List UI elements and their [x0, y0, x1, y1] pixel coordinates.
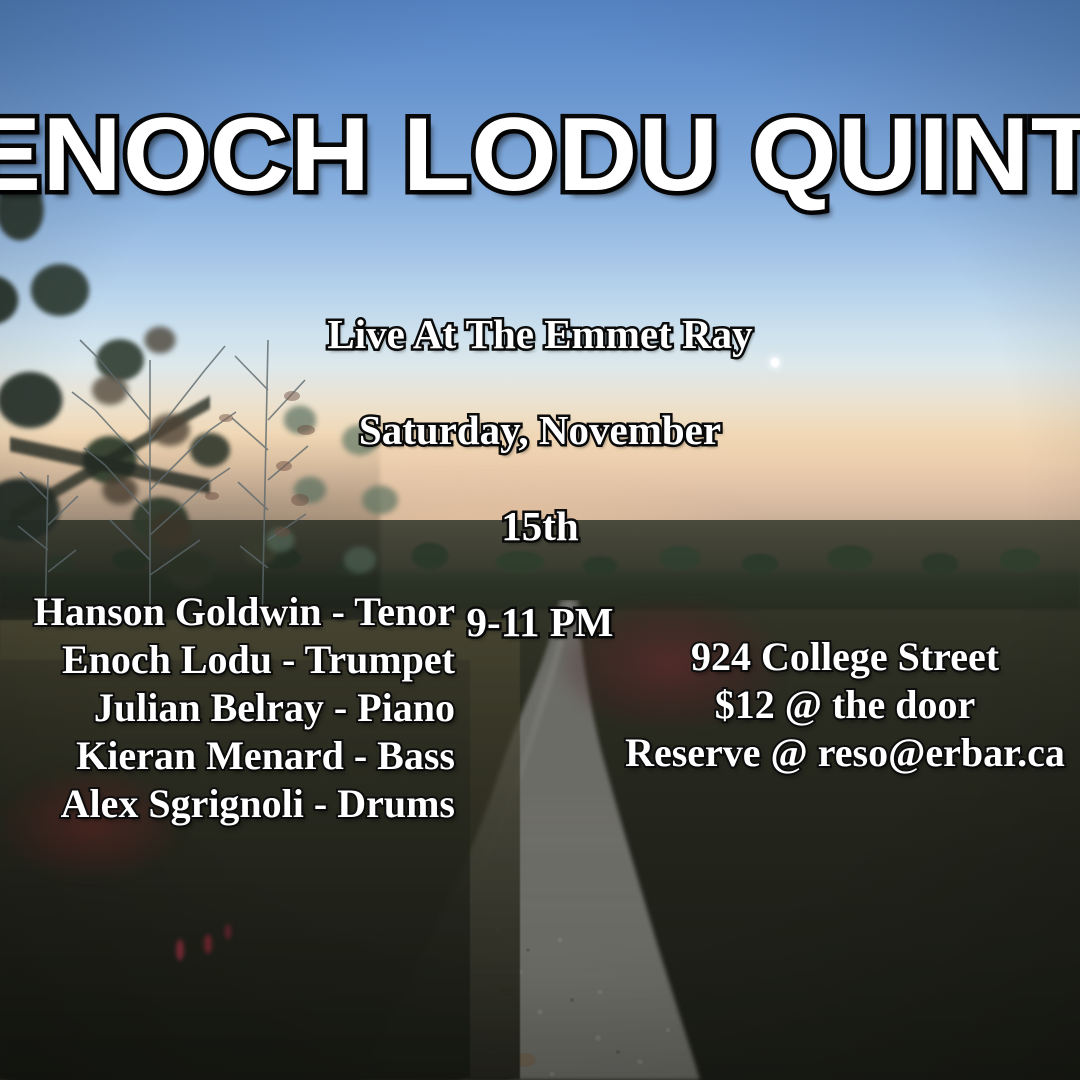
poster-title: ENOCH LODU QUINTET [0, 103, 1080, 207]
lineup-item-bass: Kieran Menard - Bass [0, 732, 455, 780]
subtitle-line-date: Saturday, November [0, 406, 1080, 454]
detail-address: 924 College Street [620, 633, 1070, 681]
detail-cover-price: $12 @ the door [620, 681, 1070, 729]
band-lineup-list: Hanson Goldwin - Tenor Enoch Lodu - Trum… [0, 588, 455, 828]
event-poster: ENOCH LODU QUINTET Live At The Emmet Ray… [0, 0, 1080, 1080]
lineup-item-tenor: Hanson Goldwin - Tenor [0, 588, 455, 636]
lineup-item-drums: Alex Sgrignoli - Drums [0, 780, 455, 828]
event-details-block: 924 College Street $12 @ the door Reserv… [620, 633, 1070, 777]
subtitle-line-day: 15th [0, 502, 1080, 550]
lineup-item-trumpet: Enoch Lodu - Trumpet [0, 636, 455, 684]
lineup-item-piano: Julian Belray - Piano [0, 684, 455, 732]
subtitle-line-venue: Live At The Emmet Ray [0, 310, 1080, 358]
detail-reservation: Reserve @ reso@erbar.ca [620, 729, 1070, 777]
